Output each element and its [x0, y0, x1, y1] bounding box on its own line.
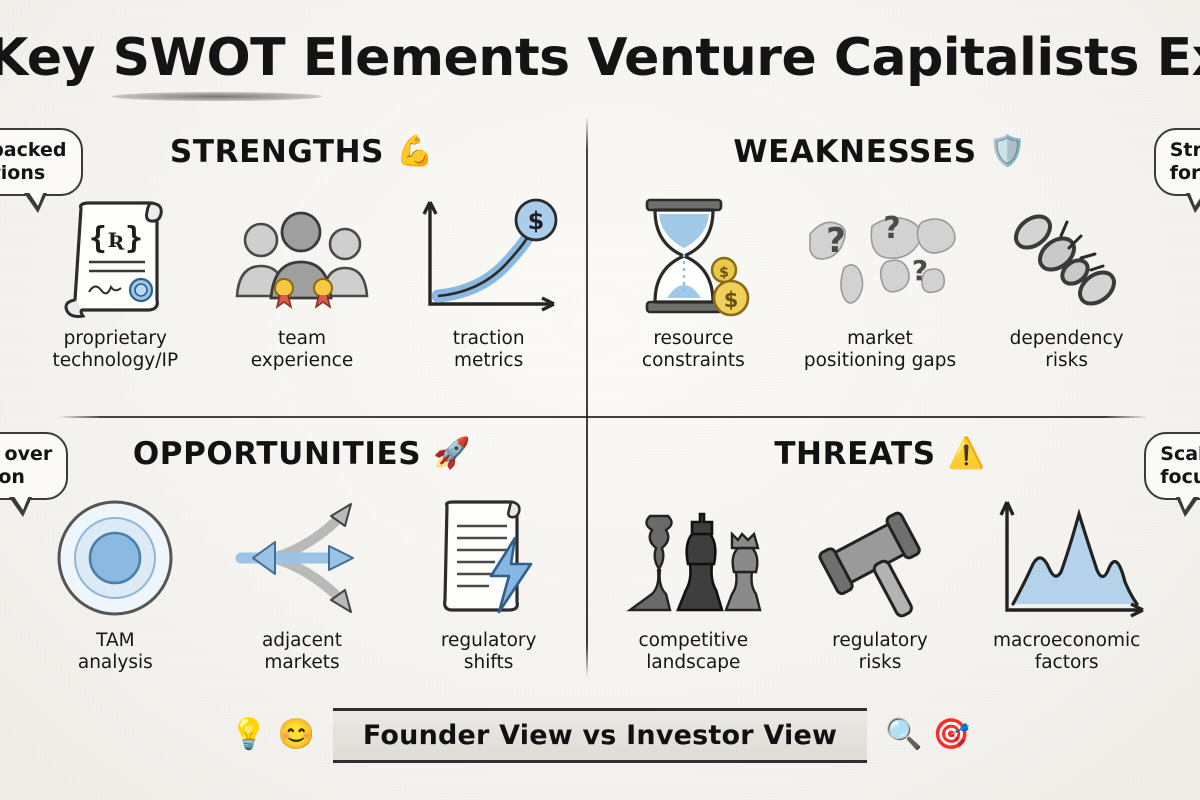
world-map-question-icon: ? ? ? [800, 190, 960, 322]
quadrant-title-text: WEAKNESSES [733, 134, 976, 170]
bubble-tail [9, 497, 32, 517]
item-caption: dependency risks [1010, 328, 1124, 371]
bubble-line-2: assertions [0, 162, 67, 185]
quadrant-title-text: STRENGTHS [170, 134, 384, 170]
caption-line-2: risks [1010, 350, 1124, 372]
item-team-experience: team experience [218, 190, 386, 371]
chess-pieces-icon [613, 492, 773, 624]
callout-bubble-top-left: data-backed assertions [0, 128, 83, 196]
hourglass-coins-icon: $ $ [613, 190, 773, 322]
item-macroeconomic-factors: macroeconomic factors [983, 492, 1151, 673]
opportunities-items: TAM analysis [22, 492, 582, 722]
svg-text:$: $ [719, 265, 729, 281]
caption-line-1: proprietary [53, 328, 179, 350]
magnifying-chart-emoji: 🔍 [885, 720, 922, 750]
caption-line-1: competitive [638, 630, 748, 652]
banner-text: Founder View vs Investor View [363, 720, 837, 751]
svg-text:$: $ [724, 288, 739, 312]
quadrant-weaknesses: WEAKNESSES 🛡️ $ $ [600, 120, 1160, 420]
item-tam-analysis: TAM analysis [31, 492, 199, 673]
quadrant-strengths: STRENGTHS 💪 { } Ʀ [22, 120, 582, 420]
item-traction-metrics: $ traction metrics [405, 190, 573, 371]
caption-line-2: landscape [638, 652, 748, 674]
caption-line-2: markets [262, 652, 342, 674]
caption-line-1: macroeconomic [993, 630, 1140, 652]
item-caption: team experience [251, 328, 354, 371]
bubble-line-2: ambition [0, 466, 52, 489]
broken-chain-icon [987, 190, 1147, 322]
branching-arrows-icon [222, 492, 382, 624]
infographic-canvas: Key SWOT Elements Venture Capitalists Ex… [0, 0, 1200, 800]
title-underline [112, 92, 322, 101]
rocket-emoji: 🚀 [433, 439, 471, 469]
item-caption: regulatory shifts [441, 630, 537, 673]
caption-line-1: team [251, 328, 354, 350]
caption-line-1: dependency [1010, 328, 1124, 350]
target-emoji: 🎯 [932, 720, 969, 750]
flexed-biceps-emoji: 💪 [396, 137, 434, 167]
lightbulb-emoji: 💡 [230, 720, 267, 750]
svg-text:?: ? [912, 254, 928, 287]
bubble-line-2: focus [1160, 466, 1200, 489]
strengths-items: { } Ʀ proprietary technology/IP [22, 190, 582, 420]
threats-items: competitive landscape [600, 492, 1160, 722]
item-competitive-landscape: competitive landscape [609, 492, 777, 673]
item-caption: regulatory risks [832, 630, 928, 673]
gavel-icon [800, 492, 960, 624]
caption-line-2: experience [251, 350, 354, 372]
bubble-line-1: clarity over [0, 443, 52, 466]
team-group-icon [222, 190, 382, 322]
item-caption: adjacent markets [262, 630, 342, 673]
item-caption: macroeconomic factors [993, 630, 1140, 673]
item-dependency-risks: dependency risks [983, 190, 1151, 371]
quadrant-opportunities: OPPORTUNITIES 🚀 TAM analysis [22, 422, 582, 722]
caption-line-2: technology/IP [53, 350, 179, 372]
item-regulatory-shifts: regulatory shifts [405, 492, 573, 673]
item-caption: traction metrics [453, 328, 525, 371]
caption-line-1: resource [642, 328, 745, 350]
caption-line-2: analysis [78, 652, 153, 674]
volatility-area-chart-icon [987, 492, 1147, 624]
caption-line-1: regulatory [441, 630, 537, 652]
shield-emoji: 🛡️ [989, 137, 1027, 167]
svg-text:$: $ [527, 207, 544, 235]
warning-triangle-emoji: ⚠️ [948, 439, 986, 469]
bubble-tail [1186, 193, 1200, 213]
item-proprietary-technology: { } Ʀ proprietary technology/IP [31, 190, 199, 371]
quadrant-heading-opportunities: OPPORTUNITIES 🚀 [22, 436, 582, 472]
item-caption: market positioning gaps [804, 328, 956, 371]
bubble-tail [1176, 497, 1199, 517]
caption-line-1: adjacent [262, 630, 342, 652]
caption-line-2: factors [993, 652, 1140, 674]
item-caption: TAM analysis [78, 630, 153, 673]
bubble-line-1: Strategic [1170, 139, 1200, 162]
quadrant-heading-threats: THREATS ⚠️ [600, 436, 1160, 472]
caption-line-1: regulatory [832, 630, 928, 652]
svg-text:?: ? [826, 221, 846, 261]
bubble-line-2: foresight [1170, 162, 1200, 185]
caption-line-2: metrics [453, 350, 525, 372]
callout-bubble-bottom-left: clarity over ambition [0, 432, 68, 500]
svg-text:?: ? [883, 211, 900, 246]
footer-left-icons: 💡 😊 [230, 720, 315, 750]
caption-line-2: shifts [441, 652, 537, 674]
item-caption: proprietary technology/IP [53, 328, 179, 371]
item-resource-constraints: $ $ resource constraints [609, 190, 777, 371]
caption-line-2: positioning gaps [804, 350, 956, 372]
quadrant-title-text: OPPORTUNITIES [133, 436, 421, 472]
founder-investor-banner: Founder View vs Investor View [333, 708, 867, 763]
quadrant-heading-weaknesses: WEAKNESSES 🛡️ [600, 134, 1160, 170]
vertical-divider [586, 116, 588, 678]
patent-scroll-icon: { } Ʀ [35, 190, 195, 322]
smiling-face-emoji: 😊 [278, 720, 315, 750]
svg-text:Ʀ: Ʀ [108, 228, 125, 252]
caption-line-1: TAM [78, 630, 153, 652]
item-caption: competitive landscape [638, 630, 748, 673]
callout-bubble-top-right: Strategic foresight [1154, 128, 1200, 196]
bubble-line-1: data-backed [0, 139, 67, 162]
quadrant-heading-strengths: STRENGTHS 💪 [22, 134, 582, 170]
footer-banner-row: 💡 😊 Founder View vs Investor View 🔍 🎯 [0, 700, 1200, 770]
footer-right-icons: 🔍 🎯 [885, 720, 970, 750]
concentric-circles-icon [35, 492, 195, 624]
callout-bubble-bottom-right: Scalability focus [1144, 432, 1200, 500]
bubble-line-1: Scalability [1160, 443, 1200, 466]
caption-line-1: traction [453, 328, 525, 350]
weaknesses-items: $ $ resource constraints [600, 190, 1160, 420]
quadrant-title-text: THREATS [774, 436, 935, 472]
growth-arrow-dollar-icon: $ [409, 190, 569, 322]
item-market-positioning-gaps: ? ? ? market positioning gaps [796, 190, 964, 371]
quadrant-threats: THREATS ⚠️ [600, 422, 1160, 722]
caption-line-2: risks [832, 652, 928, 674]
caption-line-2: constraints [642, 350, 745, 372]
item-caption: resource constraints [642, 328, 745, 371]
page-title: Key SWOT Elements Venture Capitalists Ex… [0, 28, 1200, 88]
bubble-tail [24, 193, 47, 213]
document-bolt-icon [409, 492, 569, 624]
caption-line-1: market [804, 328, 956, 350]
item-regulatory-risks: regulatory risks [796, 492, 964, 673]
item-adjacent-markets: adjacent markets [218, 492, 386, 673]
